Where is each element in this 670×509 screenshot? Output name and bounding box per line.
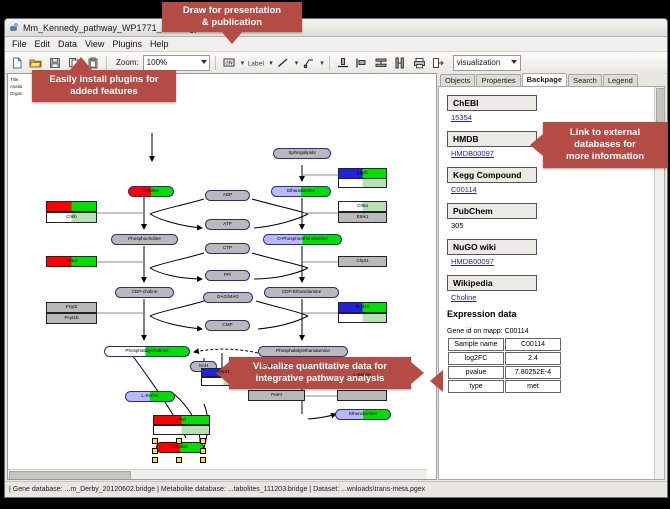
align-bottom-icon[interactable]: [335, 54, 352, 71]
callout-install-plugins: Easily install plugins for added feature…: [32, 70, 176, 102]
table-row: log2FC 2.4: [448, 352, 561, 365]
menu-item-data[interactable]: Data: [54, 39, 81, 49]
datanode-dropdown-arrow[interactable]: ▾: [241, 59, 245, 67]
tab-backpage[interactable]: Backpage: [522, 73, 567, 86]
side-panel-tabs: Objects Properties Backpage Search Legen…: [438, 73, 665, 86]
save-icon[interactable]: [46, 54, 63, 71]
menubar: File Edit Data View Plugins Help: [5, 37, 667, 52]
callout-draw-text: Draw for presentation & publication: [183, 5, 281, 29]
resize-handle-ne[interactable]: [200, 438, 206, 444]
node-dag-mag[interactable]: DAG/MAG: [203, 292, 253, 303]
menu-item-edit[interactable]: Edit: [31, 39, 55, 49]
menu-item-view[interactable]: View: [81, 39, 108, 49]
node-atp[interactable]: ATP: [205, 219, 250, 230]
node-pcyt2[interactable]: Chpt1: [338, 256, 387, 267]
cell-sample-name-value: C00114: [505, 338, 561, 351]
db-link-wikipedia[interactable]: Choline: [451, 293, 664, 302]
node-phosphocholine[interactable]: Phosphocholine: [111, 234, 178, 245]
node-pcyt1a[interactable]: Pcyt1b: [46, 313, 97, 324]
new-file-icon[interactable]: [8, 54, 25, 71]
open-folder-icon[interactable]: [27, 54, 44, 71]
resize-handle-w[interactable]: [152, 448, 158, 454]
node-etnk2[interactable]: Etnk1: [338, 212, 387, 223]
db-header-hmdb: HMDB: [447, 131, 537, 147]
toolbar-separator: [329, 56, 330, 70]
node-ptdss1[interactable]: Pisd: [153, 415, 210, 425]
table-row: Sample name C00114: [448, 338, 561, 351]
visualization-combobox[interactable]: visualization: [453, 55, 521, 71]
node-o-phosphoethanolamine[interactable]: O-Phosphoethanolamine: [263, 234, 342, 245]
statusbar-text: | Gene database: ...m_Derby_20120602.bri…: [9, 486, 425, 493]
resize-handle-nw[interactable]: [152, 438, 158, 444]
print-icon[interactable]: [411, 54, 428, 71]
resize-handle-e[interactable]: [200, 448, 206, 454]
panel-vscroll-thumb[interactable]: [656, 88, 665, 124]
node-l-serine-left[interactable]: L-Serine: [125, 391, 175, 402]
visualization-value: visualization: [457, 58, 501, 67]
table-row: pvalue 7.80252E-4: [448, 366, 561, 379]
gene-id-label: Gene id on mapp: C00114: [447, 328, 664, 335]
zoom-combobox[interactable]: 100%: [143, 55, 210, 71]
node-sphingolipids[interactable]: Sphingolipids: [273, 148, 331, 159]
db-link-nugo-wiki[interactable]: HMDB00097: [451, 257, 664, 266]
resize-handle-sw[interactable]: [152, 457, 158, 463]
line-dropdown-arrow[interactable]: ▾: [295, 59, 299, 67]
node-ppi[interactable]: PPi: [205, 270, 250, 281]
resize-handle-s[interactable]: [176, 457, 182, 463]
menu-item-file[interactable]: File: [8, 39, 31, 49]
zoom-label: Zoom:: [116, 58, 139, 67]
cell-log2fc-value: 2.4: [505, 352, 561, 365]
callout-links-arrow-bottom-icon: [430, 370, 443, 392]
db-value-pubchem: 305: [451, 221, 664, 230]
callout-visualize-data: Visualize quantitative data for integrat…: [229, 357, 411, 389]
tab-objects[interactable]: Objects: [440, 74, 475, 86]
callout-plugins-text: Easily install plugins for added feature…: [49, 74, 158, 98]
db-header-kegg-compound: Kegg Compound: [447, 167, 537, 183]
db-link-chebi[interactable]: 15354: [451, 113, 664, 122]
cell-pvalue-label: pvalue: [448, 366, 504, 379]
node-adp[interactable]: ADP: [205, 190, 250, 201]
table-row: type met: [448, 380, 561, 393]
svg-text:Label: Label: [248, 60, 265, 67]
arrow-shape-icon[interactable]: [300, 54, 317, 71]
menu-item-plugins[interactable]: Plugins: [108, 39, 146, 49]
canvas-hscroll-thumb[interactable]: [9, 471, 131, 480]
callout-links-text: Link to external databases for more info…: [566, 127, 644, 163]
export-icon[interactable]: [430, 54, 447, 71]
node-cmp[interactable]: CMP: [205, 320, 250, 331]
node-ptdss2[interactable]: [337, 390, 387, 401]
db-header-nugo-wiki: NuGO wiki: [447, 239, 537, 255]
chevron-down-icon: [201, 60, 207, 64]
chevron-down-icon: [511, 60, 517, 64]
node-cept1[interactable]: Pcyt1a: [338, 302, 387, 313]
cell-log2fc-label: log2FC: [448, 352, 504, 365]
distribute-horizontal-icon[interactable]: [392, 54, 409, 71]
distribute-vertical-icon[interactable]: [373, 54, 390, 71]
node-cdp-ethanolamine[interactable]: CDP-Ethanolamine: [264, 287, 339, 298]
node-ptdss1-secondary[interactable]: [153, 425, 210, 435]
tab-properties[interactable]: Properties: [476, 74, 520, 86]
app-icon: [9, 23, 19, 33]
node-choline-top[interactable]: Choline: [128, 186, 174, 197]
menu-item-help[interactable]: Help: [146, 39, 173, 49]
label-icon[interactable]: Label: [246, 54, 266, 71]
node-cdp-choline[interactable]: CDP-choline: [115, 287, 174, 298]
tab-legend[interactable]: Legend: [603, 74, 638, 86]
cell-type-label: type: [448, 380, 504, 393]
node-choline-selected[interactable]: Choline: [156, 442, 204, 453]
node-phosphatidylcholines[interactable]: Phosphatidylcholines: [104, 346, 190, 357]
node-sgpl1-secondary[interactable]: [338, 178, 387, 188]
callout-external-links: Link to external databases for more info…: [543, 122, 667, 168]
svg-text:dN: dN: [225, 61, 233, 67]
node-ctp[interactable]: CTP: [205, 243, 250, 254]
callout-links-arrow-icon: [530, 134, 543, 156]
resize-handle-n[interactable]: [176, 438, 182, 444]
node-ethanolamine-right[interactable]: Ethanolamine: [335, 409, 391, 420]
window-titlebar: Mm_Kennedy_pathway_WP1771_45176.gpml: [5, 19, 667, 37]
toolbar-separator: [215, 56, 216, 70]
tab-search[interactable]: Search: [568, 74, 602, 86]
db-header-wikipedia: Wikipedia: [447, 275, 537, 291]
pathway-canvas[interactable]: Title: Availa Organ: [7, 73, 437, 480]
node-chkb[interactable]: [46, 201, 97, 212]
node-chpt1[interactable]: Etnk2: [46, 256, 97, 267]
callout-draw-for-publication: Draw for presentation & publication: [162, 2, 302, 32]
db-header-pubchem: PubChem: [447, 203, 537, 219]
callout-plugins-arrow-icon: [70, 57, 92, 70]
cell-type-value: met: [505, 380, 561, 393]
data-node-icon[interactable]: dN: [221, 54, 238, 71]
cell-sample-name-label: Sample name: [448, 338, 504, 351]
label-dropdown-arrow[interactable]: ▾: [269, 59, 273, 67]
db-link-kegg-compound[interactable]: C00114: [451, 185, 664, 194]
db-header-chebi: ChEBI: [447, 95, 537, 111]
canvas-hscrollbar[interactable]: [8, 469, 427, 479]
zoom-value: 100%: [147, 58, 167, 67]
node-chka[interactable]: Chkb: [46, 212, 97, 223]
callout-draw-arrow-icon: [221, 31, 243, 44]
cell-pvalue-value: 7.80252E-4: [505, 366, 561, 379]
expression-table: Sample name C00114 log2FC 2.4 pvalue 7.8…: [447, 337, 562, 394]
align-left-icon[interactable]: [354, 54, 371, 71]
expression-data-heading: Expression data: [447, 309, 664, 319]
resize-handle-se[interactable]: [200, 457, 206, 463]
toolbar-separator: [106, 56, 107, 70]
line-icon[interactable]: [275, 54, 292, 71]
node-cept1-secondary[interactable]: [338, 313, 387, 323]
callout-visualize-arrow-right-icon: [411, 362, 424, 384]
node-phosphatidylethanolamine[interactable]: Phosphatidylethanolamine: [258, 346, 348, 357]
node-pcyt1b[interactable]: Pcyt2: [46, 302, 97, 313]
node-etnk1[interactable]: Chka: [338, 201, 387, 212]
node-ethanolamine-top[interactable]: Ethanolamine: [271, 186, 331, 197]
screenshot-root: Mm_Kennedy_pathway_WP1771_45176.gpml Fil…: [0, 0, 670, 509]
statusbar: | Gene database: ...m_Derby_20120602.bri…: [5, 481, 667, 497]
arrow-dropdown-arrow[interactable]: ▾: [320, 59, 324, 67]
node-pisd[interactable]: Pemt: [248, 390, 305, 401]
